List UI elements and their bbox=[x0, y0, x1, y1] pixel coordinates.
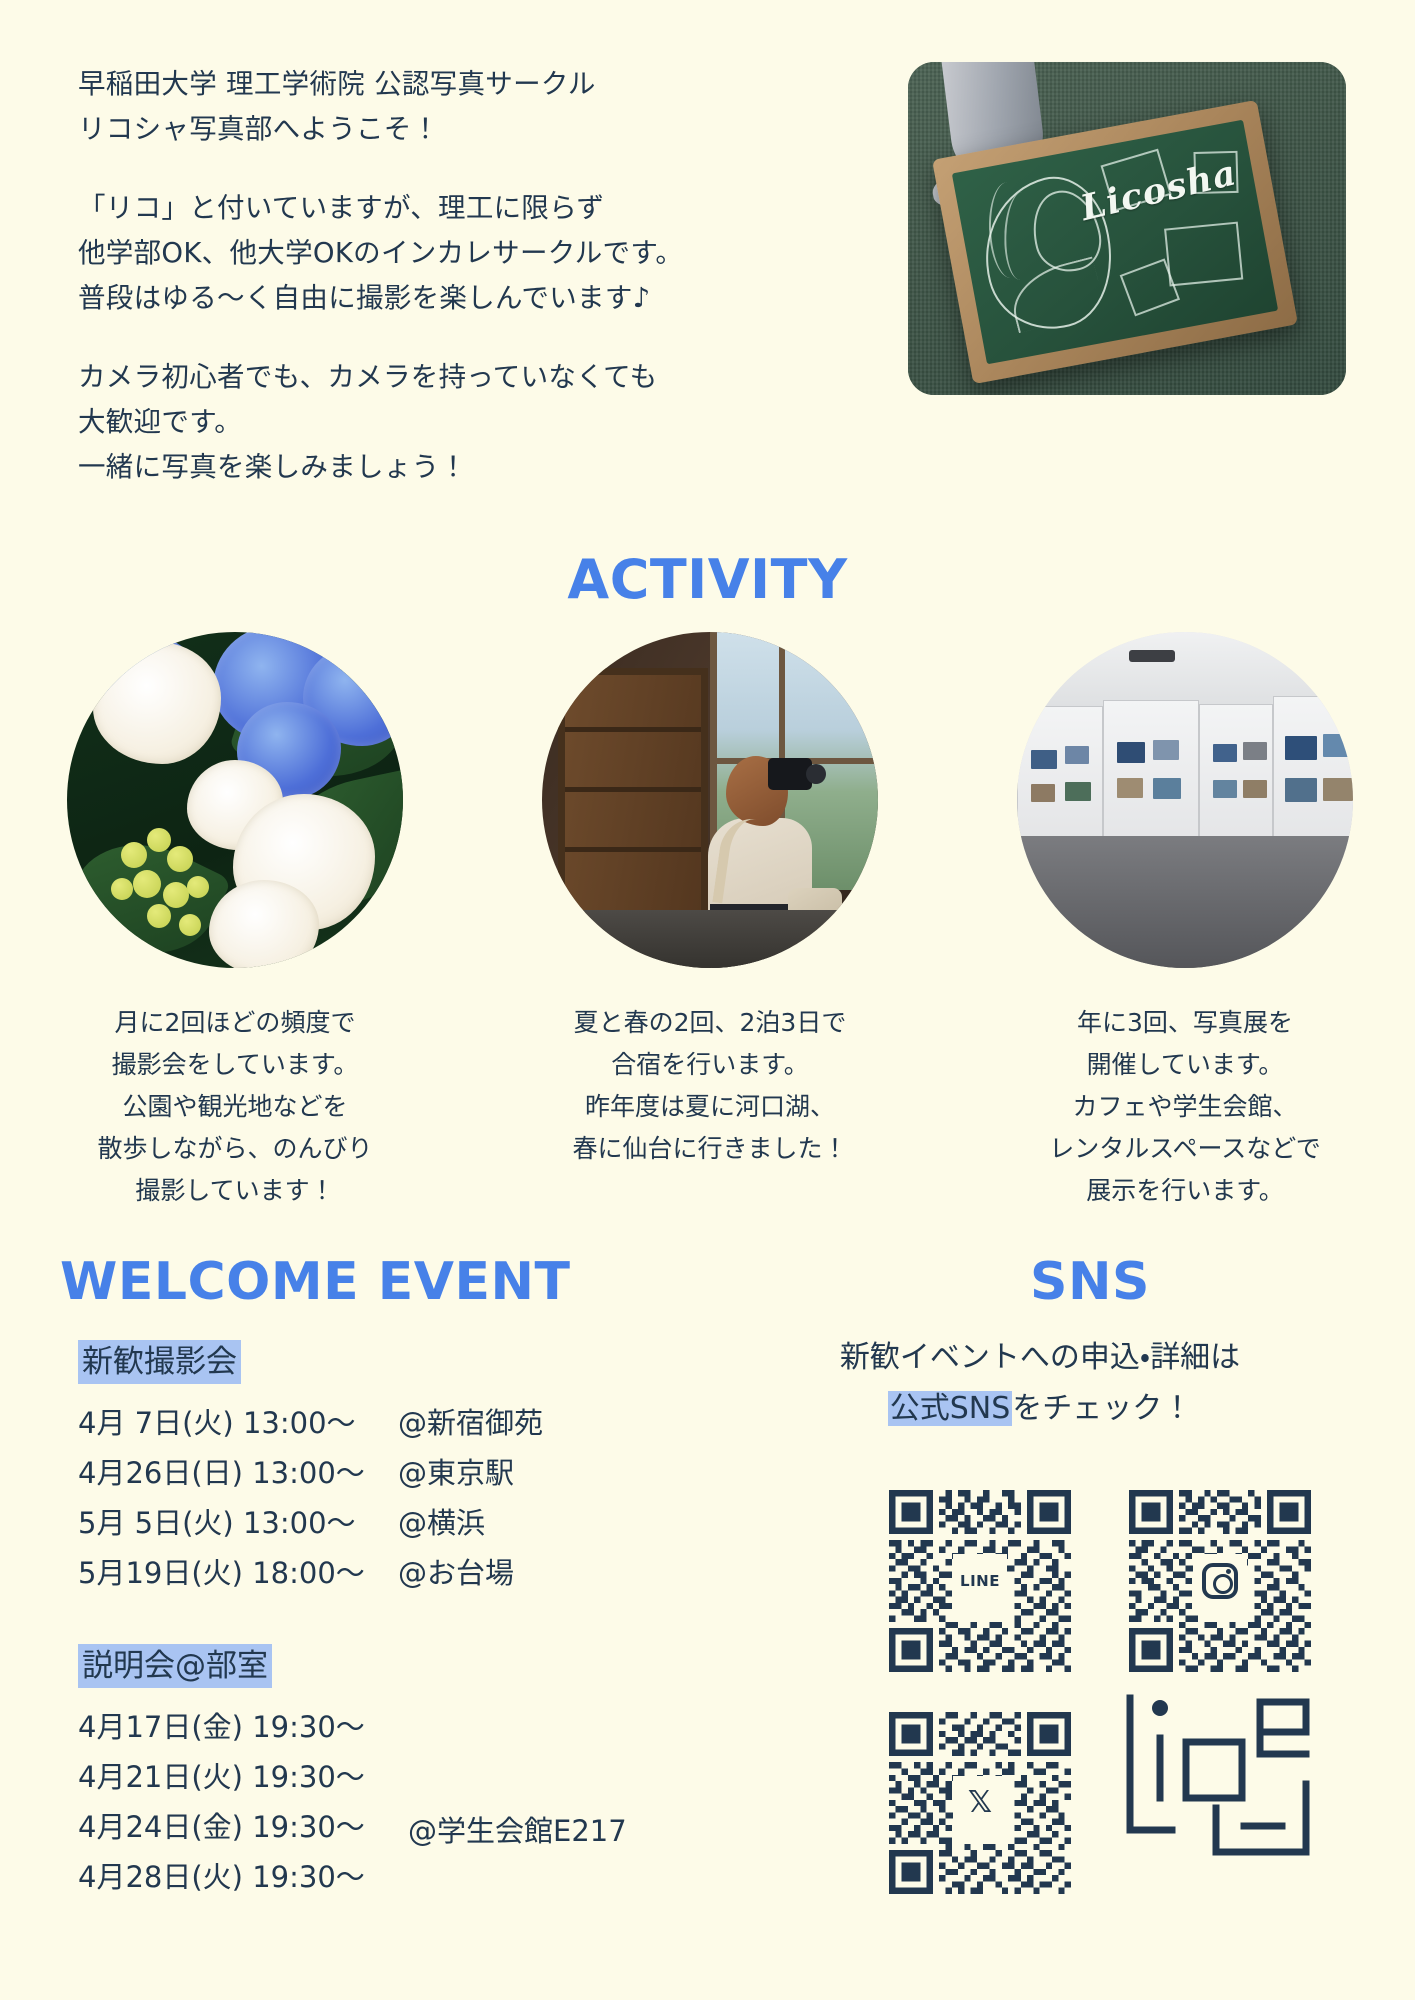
poster-canvas: 早稲田大学 理工学術院 公認写真サークル リコシャ写真部へようこそ！ 「リコ」と… bbox=[0, 0, 1415, 2000]
flower-bud bbox=[147, 904, 171, 928]
schedule-datetime: 4月17日(金) 19:30〜 bbox=[78, 1702, 398, 1752]
intro-paragraph-3: カメラ初心者でも、カメラを持っていなくても 大歓迎です。 一緒に写真を楽しみまし… bbox=[78, 355, 698, 490]
hero-photo: Licosha bbox=[908, 62, 1346, 395]
intro-line: 一緒に写真を楽しみましょう！ bbox=[78, 445, 698, 490]
flower-bud bbox=[111, 878, 133, 900]
schedule-group-photoshoot: 新歓撮影会 4月 7日(火) 13:00〜 @新宿御苑 4月26日(日) 13:… bbox=[78, 1340, 718, 1598]
flower-bud bbox=[167, 846, 193, 872]
ceiling-light-icon bbox=[1129, 650, 1175, 662]
schedule-datetime: 4月26日(日) 13:00〜 bbox=[78, 1448, 398, 1498]
exhibit-photo bbox=[1031, 784, 1055, 802]
caption-line: 散歩しながら、のんびり bbox=[97, 1128, 372, 1170]
sns-line-highlighted: 公式SNSをチェック！ bbox=[740, 1383, 1340, 1434]
activity-column: 夏と春の2回、2泊3日で 合宿を行います。 昨年度は夏に河口湖、 春に仙台に行き… bbox=[535, 632, 885, 1212]
intro-line: カメラ初心者でも、カメラを持っていなくても bbox=[78, 355, 698, 400]
section-heading-activity: ACTIVITY bbox=[0, 548, 1415, 611]
exhibit-photo bbox=[1153, 740, 1179, 760]
activity-photo-exhibition bbox=[1017, 632, 1353, 968]
floor-area bbox=[542, 910, 878, 968]
exhibit-photo bbox=[1323, 734, 1353, 757]
schedule-datetime: 4月21日(火) 19:30〜 bbox=[78, 1752, 398, 1802]
schedule-row: 4月26日(日) 13:00〜 @東京駅 bbox=[78, 1448, 718, 1498]
exhibit-photo bbox=[1213, 780, 1237, 798]
schedule-group-title: 説明会@部室 bbox=[78, 1644, 272, 1688]
exhibit-photo bbox=[1243, 780, 1267, 798]
briefing-venue: @学生会館E217 bbox=[408, 1808, 627, 1850]
caption-line: レンタルスペースなどで bbox=[1049, 1128, 1321, 1170]
line-icon: LINE bbox=[960, 1572, 1000, 1590]
instagram-icon bbox=[1202, 1563, 1238, 1599]
schedule-datetime: 4月 7日(火) 13:00〜 bbox=[78, 1398, 398, 1448]
qr-badge-line: LINE bbox=[953, 1554, 1007, 1608]
flower-bud bbox=[147, 828, 171, 852]
shelf-row bbox=[565, 847, 701, 852]
activity-photo-hydrangea bbox=[67, 632, 403, 968]
wooden-shelf bbox=[558, 668, 708, 918]
caption-line: 展示を行います。 bbox=[1049, 1170, 1321, 1212]
intro-text-block: 早稲田大学 理工学術院 公認写真サークル リコシャ写真部へようこそ！ 「リコ」と… bbox=[78, 62, 698, 490]
camera-icon bbox=[768, 758, 812, 790]
caption-line: 撮影会をしています。 bbox=[97, 1044, 372, 1086]
intro-line: 早稲田大学 理工学術院 公認写真サークル bbox=[78, 62, 698, 107]
exhibit-photo bbox=[1065, 782, 1091, 801]
flower-bud bbox=[163, 882, 189, 908]
schedule-group-briefing: 説明会@部室 4月17日(金) 19:30〜 4月21日(火) 19:30〜 4… bbox=[78, 1644, 718, 1902]
sns-highlight: 公式SNS bbox=[888, 1391, 1013, 1426]
exhibit-photo bbox=[1285, 736, 1317, 760]
shelf-row bbox=[565, 727, 701, 732]
schedule-datetime: 4月28日(火) 19:30〜 bbox=[78, 1852, 398, 1902]
intro-paragraph-2: 「リコ」と付いていますが、理工に限らず 他学部OK、他大学OKのインカレサークル… bbox=[78, 186, 698, 321]
schedule-row: 5月19日(火) 18:00〜 @お台場 bbox=[78, 1548, 718, 1598]
exhibit-photo bbox=[1213, 744, 1237, 762]
intro-line: 普段はゆる〜く自由に撮影を楽しんでいます♪ bbox=[78, 276, 698, 321]
caption-line: 合宿を行います。 bbox=[572, 1044, 847, 1086]
exhibit-photo bbox=[1117, 742, 1145, 763]
caption-line: 撮影しています！ bbox=[97, 1170, 372, 1212]
exhibit-photo bbox=[1243, 742, 1267, 760]
white-flower bbox=[93, 642, 221, 764]
exhibit-photo bbox=[1031, 750, 1057, 769]
caption-line: 公園や観光地などを bbox=[97, 1086, 372, 1128]
sns-line-tail: をチェック！ bbox=[1012, 1391, 1192, 1426]
schedule-row: 4月28日(火) 19:30〜 bbox=[78, 1852, 718, 1902]
exhibit-photo bbox=[1117, 778, 1143, 798]
exit-sign-icon bbox=[830, 648, 874, 678]
schedule-venue: @東京駅 bbox=[398, 1448, 514, 1498]
flower-bud bbox=[187, 876, 209, 898]
intro-line: リコシャ写真部へようこそ！ bbox=[78, 107, 698, 152]
caption-line: 春に仙台に行きました！ bbox=[572, 1128, 847, 1170]
exhibit-photo bbox=[1285, 778, 1317, 802]
sns-line: 新歓イベントへの申込・詳細は bbox=[740, 1332, 1340, 1383]
sign-shape bbox=[1164, 222, 1243, 287]
schedule-venue: @新宿御苑 bbox=[398, 1398, 543, 1448]
flower-bud bbox=[121, 842, 147, 868]
flower-bud bbox=[133, 870, 161, 898]
activity-column: 年に3回、写真展を 開催しています。 カフェや学生会館、 レンタルスペースなどで… bbox=[1010, 632, 1360, 1212]
flower-bud bbox=[179, 914, 201, 936]
schedule-row: 4月 7日(火) 13:00〜 @新宿御苑 bbox=[78, 1398, 718, 1448]
board-face: Licosha bbox=[952, 120, 1278, 365]
activity-photo-shooting bbox=[542, 632, 878, 968]
caption-line: カフェや学生会館、 bbox=[1049, 1086, 1321, 1128]
schedule-row: 5月 5日(火) 13:00〜 @横浜 bbox=[78, 1498, 718, 1548]
schedule-datetime: 5月 5日(火) 13:00〜 bbox=[78, 1498, 398, 1548]
section-heading-welcome-event: WELCOME EVENT bbox=[60, 1252, 571, 1312]
exhibit-photo bbox=[1153, 778, 1181, 799]
caption-line: 夏と春の2回、2泊3日で bbox=[572, 1002, 847, 1044]
intro-line: 他学部OK、他大学OKのインカレサークルです。 bbox=[78, 231, 698, 276]
licosha-logo-mark bbox=[1120, 1680, 1316, 1866]
caption-line: 年に3回、写真展を bbox=[1049, 1002, 1321, 1044]
schedule-venue: @お台場 bbox=[398, 1548, 514, 1598]
activity-caption: 年に3回、写真展を 開催しています。 カフェや学生会館、 レンタルスペースなどで… bbox=[1049, 1002, 1321, 1212]
intro-line: 「リコ」と付いていますが、理工に限らず bbox=[78, 186, 698, 231]
exhibit-photo bbox=[1323, 778, 1353, 801]
schedule-datetime: 4月24日(金) 19:30〜 bbox=[78, 1802, 398, 1852]
welcome-event-schedule: 新歓撮影会 4月 7日(火) 13:00〜 @新宿御苑 4月26日(日) 13:… bbox=[78, 1340, 718, 1908]
qr-code-line[interactable]: LINE bbox=[889, 1490, 1071, 1672]
white-flower bbox=[209, 880, 319, 968]
x-icon: 𝕏 bbox=[968, 1788, 992, 1818]
qr-badge-x: 𝕏 bbox=[953, 1776, 1007, 1830]
sns-text-block: 新歓イベントへの申込・詳細は 公式SNSをチェック！ bbox=[740, 1332, 1340, 1434]
intro-line: 大歓迎です。 bbox=[78, 400, 698, 445]
exhibit-photo bbox=[1065, 746, 1089, 764]
qr-code-instagram[interactable] bbox=[1129, 1490, 1311, 1672]
schedule-row: 4月21日(火) 19:30〜 bbox=[78, 1752, 718, 1802]
intro-paragraph-1: 早稲田大学 理工学術院 公認写真サークル リコシャ写真部へようこそ！ bbox=[78, 62, 698, 152]
schedule-group-title: 新歓撮影会 bbox=[78, 1340, 241, 1384]
caption-line: 開催しています。 bbox=[1049, 1044, 1321, 1086]
schedule-venue: @横浜 bbox=[398, 1498, 485, 1548]
section-heading-sns: SNS bbox=[1030, 1252, 1150, 1312]
qr-badge-instagram bbox=[1193, 1554, 1247, 1608]
caption-line: 昨年度は夏に河口湖、 bbox=[572, 1086, 847, 1128]
shelf-row bbox=[565, 787, 701, 792]
activity-caption: 夏と春の2回、2泊3日で 合宿を行います。 昨年度は夏に河口湖、 春に仙台に行き… bbox=[572, 1002, 847, 1170]
schedule-datetime: 5月19日(火) 18:00〜 bbox=[78, 1548, 398, 1598]
activity-column: 月に2回ほどの頻度で 撮影会をしています。 公園や観光地などを 散歩しながら、の… bbox=[60, 632, 410, 1212]
activity-columns: 月に2回ほどの頻度で 撮影会をしています。 公園や観光地などを 散歩しながら、の… bbox=[60, 632, 1360, 1212]
gallery-floor bbox=[1017, 836, 1353, 968]
qr-code-x[interactable]: 𝕏 bbox=[889, 1712, 1071, 1894]
caption-line: 月に2回ほどの頻度で bbox=[97, 1002, 372, 1044]
activity-caption: 月に2回ほどの頻度で 撮影会をしています。 公園や観光地などを 散歩しながら、の… bbox=[97, 1002, 372, 1212]
schedule-row: 4月17日(金) 19:30〜 bbox=[78, 1702, 718, 1752]
